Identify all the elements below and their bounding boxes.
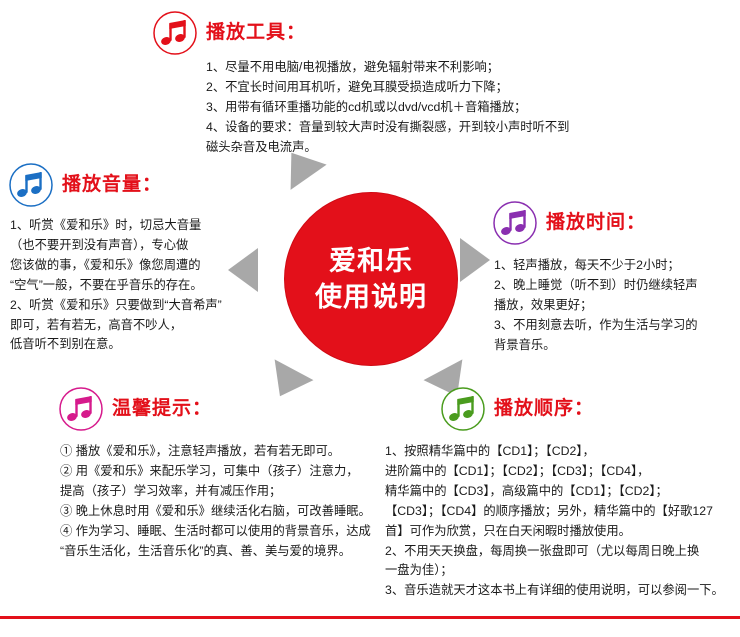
- play-volume-header: 播放音量：: [8, 162, 248, 208]
- play-time-header: 播放时间：: [492, 200, 738, 246]
- section-play-order: 播放顺序： 1、按照精华篇中的【CD1】；【CD2】， 进阶篇中的【CD1】；【…: [440, 386, 740, 601]
- center-title-line2: 使用说明: [315, 279, 427, 315]
- arrow-to-play-time: [460, 238, 490, 282]
- play-time-body: 1、轻声播放，每天不少于2小时； 2、晚上睡觉（听不到）时仍继续轻声 播放，效果…: [494, 256, 738, 356]
- music-notes-icon: [152, 10, 198, 56]
- play-time-title: 播放时间：: [546, 207, 646, 234]
- play-order-line-7: 一盘为佳）；: [385, 561, 725, 581]
- warm-tips-header: 温馨提示：: [58, 386, 408, 432]
- play-time-line-4: 3、不用刻意去听，作为生活与学习的: [494, 316, 738, 336]
- play-tools-body: 1、尽量不用电脑/电视播放，避免辐射带来不利影响； 2、不宜长时间用耳机听，避免…: [206, 58, 622, 158]
- play-order-title: 播放顺序：: [494, 393, 594, 420]
- play-volume-line-6: 即可，若有若无，高音不吵人，: [10, 316, 248, 336]
- play-order-body: 1、按照精华篇中的【CD1】；【CD2】， 进阶篇中的【CD1】；【CD2】；【…: [385, 442, 725, 601]
- section-play-volume: 播放音量： 1、听赏《爱和乐》时，切忌大音量 （也不要开到没有声音），专心做 您…: [8, 162, 248, 355]
- section-warm-tips: 温馨提示： ① 播放《爱和乐》，注意轻声播放，若有若无即可。 ② 用《爱和乐》来…: [58, 386, 408, 561]
- play-volume-line-4: “空气”一般，不要在乎音乐的存在。: [10, 276, 248, 296]
- warm-tips-line-6: “音乐生活化，生活音乐化”的真、善、美与爱的境界。: [60, 542, 408, 562]
- music-notes-icon: [58, 386, 104, 432]
- bottom-divider: [0, 616, 740, 619]
- play-order-line-3: 精华篇中的【CD3】，高级篇中的【CD1】；【CD2】；: [385, 482, 725, 502]
- play-volume-line-1: 1、听赏《爱和乐》时，切忌大音量: [10, 216, 248, 236]
- play-order-line-4: 【CD3】；【CD4】的顺序播放；另外，精华篇中的【好歌127: [385, 502, 725, 522]
- play-tools-line-2: 2、不宜长时间用耳机听，避免耳膜受损造成听力下降；: [206, 78, 622, 98]
- play-volume-title: 播放音量：: [62, 169, 162, 196]
- music-notes-icon: [8, 162, 54, 208]
- play-time-line-3: 播放，效果更好；: [494, 296, 738, 316]
- play-order-line-1: 1、按照精华篇中的【CD1】；【CD2】，: [385, 442, 725, 462]
- warm-tips-title: 温馨提示：: [112, 393, 212, 420]
- center-title-line1: 爱和乐: [329, 243, 413, 279]
- music-notes-icon: [440, 386, 486, 432]
- play-volume-body: 1、听赏《爱和乐》时，切忌大音量 （也不要开到没有声音），专心做 您该做的事，《…: [10, 216, 248, 355]
- warm-tips-line-5: ④ 作为学习、睡眠、生活时都可以使用的背景音乐，达成: [60, 522, 408, 542]
- play-volume-line-2: （也不要开到没有声音），专心做: [10, 236, 248, 256]
- play-order-line-6: 2、不用天天换盘，每周换一张盘即可（尤以每周日晚上换: [385, 542, 725, 562]
- play-time-line-2: 2、晚上睡觉（听不到）时仍继续轻声: [494, 276, 738, 296]
- play-tools-line-5: 磁头杂音及电流声。: [206, 138, 622, 158]
- play-tools-line-4: 4、设备的要求：音量到较大声时没有撕裂感，开到较小声时听不到: [206, 118, 622, 138]
- play-tools-title: 播放工具：: [206, 17, 306, 44]
- play-tools-line-3: 3、用带有循环重播功能的cd机或以dvd/vcd机＋音箱播放；: [206, 98, 622, 118]
- poster-root: 爱和乐 使用说明 播放: [0, 0, 740, 637]
- warm-tips-line-3: 提高（孩子）学习效率，并有减压作用；: [60, 482, 408, 502]
- warm-tips-line-4: ③ 晚上休息时用《爱和乐》继续活化右脑，可改善睡眠。: [60, 502, 408, 522]
- music-notes-icon: [492, 200, 538, 246]
- play-volume-line-5: 2、听赏《爱和乐》只要做到“大音希声”: [10, 296, 248, 316]
- play-order-line-8: 3、音乐造就天才这本书上有详细的使用说明，可以参阅一下。: [385, 581, 725, 601]
- play-time-line-1: 1、轻声播放，每天不少于2小时；: [494, 256, 738, 276]
- play-volume-line-3: 您该做的事，《爱和乐》像您周遭的: [10, 256, 248, 276]
- play-time-line-5: 背景音乐。: [494, 336, 738, 356]
- play-order-header: 播放顺序：: [440, 386, 740, 432]
- warm-tips-line-1: ① 播放《爱和乐》，注意轻声播放，若有若无即可。: [60, 442, 408, 462]
- play-volume-line-7: 低音听不到别在意。: [10, 335, 248, 355]
- play-tools-header: 播放工具：: [152, 10, 622, 56]
- warm-tips-body: ① 播放《爱和乐》，注意轻声播放，若有若无即可。 ② 用《爱和乐》来配乐学习，可…: [60, 442, 408, 561]
- play-order-line-2: 进阶篇中的【CD1】；【CD2】；【CD3】；【CD4】，: [385, 462, 725, 482]
- section-play-tools: 播放工具： 1、尽量不用电脑/电视播放，避免辐射带来不利影响； 2、不宜长时间用…: [152, 10, 622, 158]
- section-play-time: 播放时间： 1、轻声播放，每天不少于2小时； 2、晚上睡觉（听不到）时仍继续轻声…: [492, 200, 738, 356]
- center-circle: 爱和乐 使用说明: [285, 193, 457, 365]
- warm-tips-line-2: ② 用《爱和乐》来配乐学习，可集中（孩子）注意力，: [60, 462, 408, 482]
- play-order-line-5: 首】可作为欣赏，只在白天闲暇时播放使用。: [385, 522, 725, 542]
- play-tools-line-1: 1、尽量不用电脑/电视播放，避免辐射带来不利影响；: [206, 58, 622, 78]
